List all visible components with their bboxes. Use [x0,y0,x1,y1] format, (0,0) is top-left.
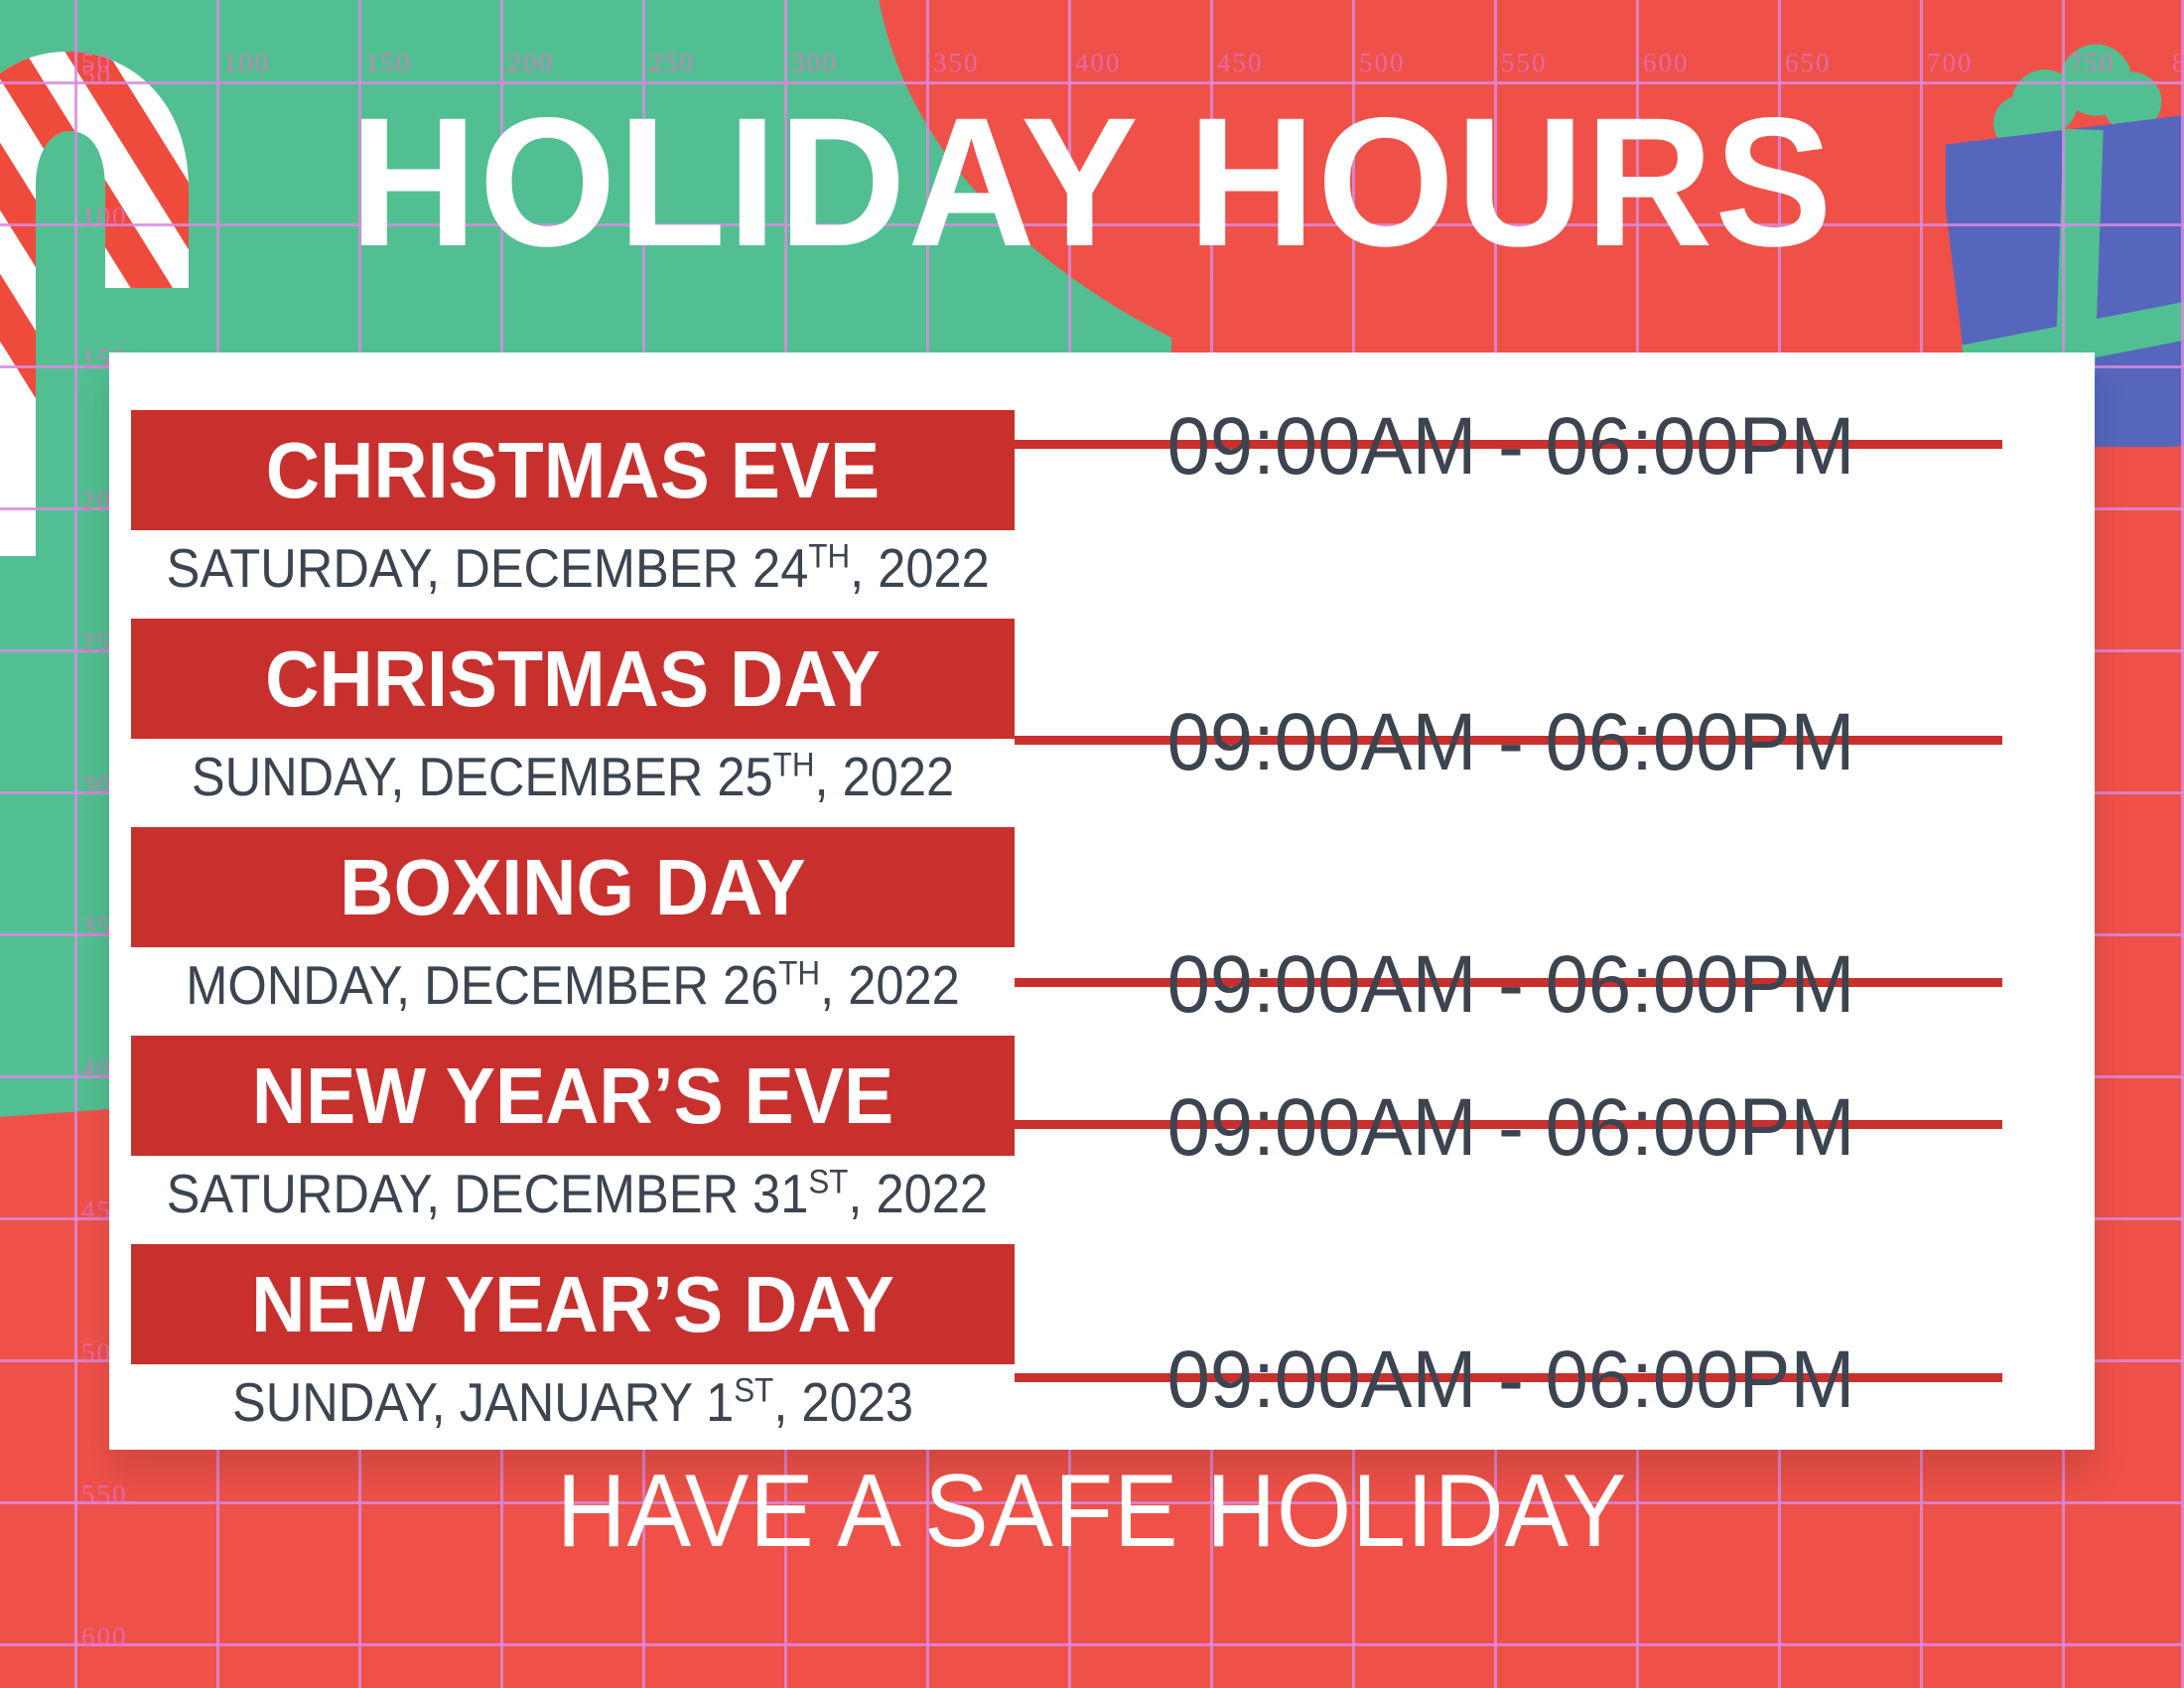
holiday-name: CHRISTMAS EVE [158,431,989,510]
holiday-hours: 09:00AM - 06:00PM [1039,702,1982,783]
date-ordinal: TH [808,538,850,576]
table-row: BOXING DAY MONDAY, DECEMBER 26TH, 2022 0… [109,827,2095,1035]
holiday-name-band: NEW YEAR’S DAY [131,1244,1015,1364]
holiday-name-band: CHRISTMAS DAY [131,619,1015,739]
date-ordinal: ST [808,1164,848,1201]
holiday-date: SUNDAY, JANUARY 1ST, 2023 [167,1371,980,1434]
date-prefix: SATURDAY, DECEMBER 24 [167,537,809,599]
holiday-hours: 09:00AM - 06:00PM [1039,1087,1982,1169]
holiday-hours: 09:00AM - 06:00PM [1039,1339,1982,1421]
holiday-name-band: CHRISTMAS EVE [131,410,1015,530]
holiday-name: BOXING DAY [158,848,989,927]
holiday-name-band: BOXING DAY [131,827,1015,947]
date-suffix: , 2022 [850,537,990,599]
holiday-hours: 09:00AM - 06:00PM [1039,406,1982,488]
date-suffix: , 2022 [820,954,960,1016]
holiday-date: SATURDAY, DECEMBER 24TH, 2022 [167,537,980,600]
holiday-date: SUNDAY, DECEMBER 25TH, 2022 [167,746,980,808]
date-ordinal: TH [773,747,815,784]
holiday-date: SATURDAY, DECEMBER 31ST, 2022 [167,1163,980,1225]
date-prefix: SATURDAY, DECEMBER 31 [167,1163,809,1224]
table-row: NEW YEAR’S DAY SUNDAY, JANUARY 1ST, 2023… [109,1244,2095,1452]
table-row: NEW YEAR’S EVE SATURDAY, DECEMBER 31ST, … [109,1036,2095,1243]
date-ordinal: ST [734,1372,773,1410]
footer-message: HAVE A SAFE HOLIDAY [76,1460,2108,1563]
holiday-hours: 09:00AM - 06:00PM [1039,944,1982,1026]
date-suffix: , 2022 [848,1163,988,1224]
date-suffix: , 2022 [814,746,954,807]
holiday-date: MONDAY, DECEMBER 26TH, 2022 [167,954,980,1017]
schedule-card: CHRISTMAS EVE SATURDAY, DECEMBER 24TH, 2… [109,352,2095,1450]
date-suffix: , 2023 [773,1371,913,1433]
poster-canvas: 50 100 150 200 250 300 350 400 450 500 5… [0,0,2184,1688]
date-ordinal: TH [778,955,820,993]
holiday-name-band: NEW YEAR’S EVE [131,1036,1015,1156]
holiday-name: NEW YEAR’S DAY [158,1265,989,1344]
holiday-name: NEW YEAR’S EVE [158,1056,989,1136]
table-row: CHRISTMAS EVE SATURDAY, DECEMBER 24TH, 2… [109,410,2095,618]
holiday-name: CHRISTMAS DAY [158,639,989,719]
date-prefix: SUNDAY, DECEMBER 25 [192,746,773,807]
page-title: HOLIDAY HOURS [44,91,2140,275]
date-prefix: SUNDAY, JANUARY 1 [232,1371,734,1433]
date-prefix: MONDAY, DECEMBER 26 [186,954,778,1016]
table-row: CHRISTMAS DAY SUNDAY, DECEMBER 25TH, 202… [109,619,2095,826]
